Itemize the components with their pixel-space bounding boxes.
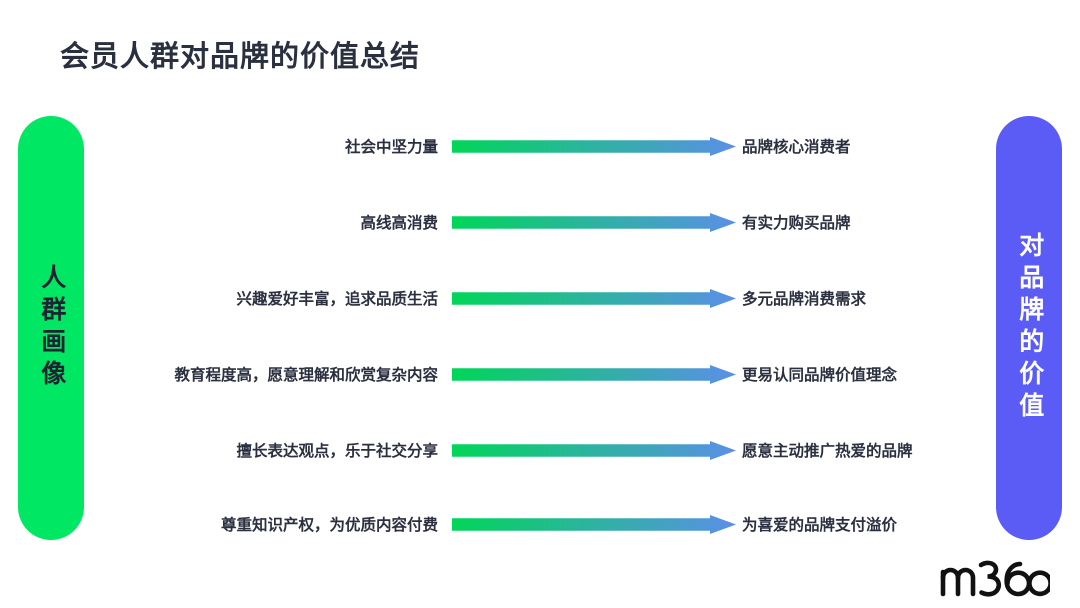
mapping-rows: 社会中坚力量 品牌核心消费者 高线高消费 bbox=[96, 116, 986, 540]
mapping-row: 尊重知识产权，为优质内容付费 为喜爱的品牌支付溢价 bbox=[96, 507, 986, 541]
row-left-label: 擅长表达观点，乐于社交分享 bbox=[32, 439, 452, 461]
right-arrow-icon bbox=[452, 137, 736, 156]
page-title: 会员人群对品牌的价值总结 bbox=[60, 33, 420, 75]
row-left-label: 尊重知识产权，为优质内容付费 bbox=[32, 513, 452, 535]
row-left-label: 社会中坚力量 bbox=[32, 135, 452, 157]
row-right-label: 更易认同品牌价值理念 bbox=[742, 363, 897, 385]
brand-value-pill-label: 对品牌的价值 bbox=[1014, 232, 1044, 424]
mapping-row: 高线高消费 有实力购买品牌 bbox=[96, 205, 986, 239]
row-right-label: 多元品牌消费需求 bbox=[742, 287, 866, 309]
right-arrow-icon bbox=[452, 289, 736, 308]
mapping-row: 教育程度高，愿意理解和欣赏复杂内容 更易认同品牌价值理念 bbox=[96, 357, 986, 391]
mapping-row: 社会中坚力量 品牌核心消费者 bbox=[96, 129, 986, 163]
row-left-label: 高线高消费 bbox=[32, 211, 452, 233]
right-arrow-icon bbox=[452, 213, 736, 232]
row-left-label: 教育程度高，愿意理解和欣赏复杂内容 bbox=[32, 363, 452, 385]
right-arrow-icon bbox=[452, 441, 736, 460]
mapping-row: 兴趣爱好丰富，追求品质生活 多元品牌消费需求 bbox=[96, 281, 986, 315]
row-left-label: 兴趣爱好丰富，追求品质生活 bbox=[32, 287, 452, 309]
audience-profile-pill: 人群画像 bbox=[18, 116, 84, 540]
row-right-label: 有实力购买品牌 bbox=[742, 211, 851, 233]
right-arrow-icon bbox=[452, 515, 736, 534]
brand-value-pill: 对品牌的价值 bbox=[996, 116, 1062, 540]
m360-logo bbox=[940, 557, 1050, 597]
row-right-label: 为喜爱的品牌支付溢价 bbox=[742, 513, 897, 535]
row-right-label: 愿意主动推广热爱的品牌 bbox=[742, 439, 913, 461]
row-right-label: 品牌核心消费者 bbox=[742, 135, 851, 157]
right-arrow-icon bbox=[452, 365, 736, 384]
mapping-row: 擅长表达观点，乐于社交分享 愿意主动推广热爱的品牌 bbox=[96, 433, 986, 467]
